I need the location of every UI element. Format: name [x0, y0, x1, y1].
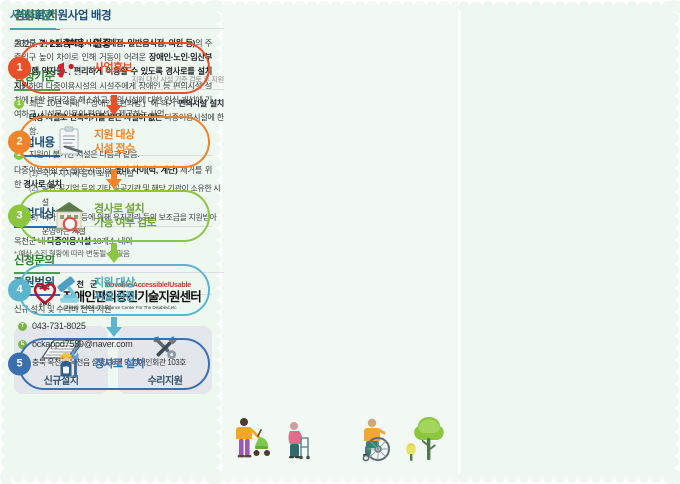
- process-step-5: 5 경사로 설치: [18, 338, 210, 390]
- person-in-wheelchair-figure: [363, 419, 389, 461]
- process-step-number-1: 1: [8, 56, 31, 79]
- right-column-content: 사업과정 1: [10, 10, 216, 390]
- worker-icon: [48, 347, 90, 381]
- process-step-label-5: 경사로 설치: [94, 357, 144, 371]
- gavel-icon: [48, 273, 90, 307]
- house-search-icon: [48, 199, 90, 233]
- column-background-right: [458, 0, 680, 484]
- parent-with-stroller-figure: [236, 418, 270, 457]
- process-step-number-5: 5: [8, 352, 31, 375]
- process-step-label-3: 경사로 설치 가능 여부 검토: [94, 202, 156, 230]
- megaphone-icon: [48, 53, 90, 83]
- section-divider: [10, 28, 216, 29]
- column-background-middle: [222, 0, 458, 484]
- bottom-illustration: [222, 413, 458, 475]
- process-arrow-1: [18, 94, 210, 116]
- process-step-label-4: 지원 대상 시설 선정: [94, 276, 135, 304]
- process-step-2: 2: [18, 116, 210, 168]
- process-step-label-1: 사업홍보: [94, 61, 132, 75]
- process-step-number-3: 3: [8, 204, 31, 227]
- clipboard-icon: [48, 125, 90, 159]
- elderly-with-walker-figure: [289, 422, 310, 459]
- process-step-4: 4 지원 대상 시설 선정: [18, 264, 210, 316]
- tree-and-plant-figure: [406, 417, 444, 461]
- section-process: 사업과정: [10, 10, 216, 29]
- process-step-label-2: 지원 대상 시설 접수: [94, 128, 135, 156]
- middle-panel-background: [222, 0, 458, 484]
- poster-root: 경사로 지원사업 배경 옥천군 관내 다중이용시설(소매점, 일반음식점, 의원…: [0, 0, 680, 484]
- process-arrow-4: [18, 316, 210, 338]
- right-panel-background: [458, 0, 680, 484]
- process-step-1: 1 사업홍보: [18, 42, 210, 94]
- process-flow: 1 사업홍보: [10, 42, 216, 390]
- section-title-process: 사업과정: [10, 10, 216, 28]
- process-step-3: 3: [18, 190, 210, 242]
- process-step-number-2: 2: [8, 130, 31, 153]
- process-arrow-3: [18, 242, 210, 264]
- process-step-number-4: 4: [8, 278, 31, 301]
- process-arrow-2: [18, 168, 210, 190]
